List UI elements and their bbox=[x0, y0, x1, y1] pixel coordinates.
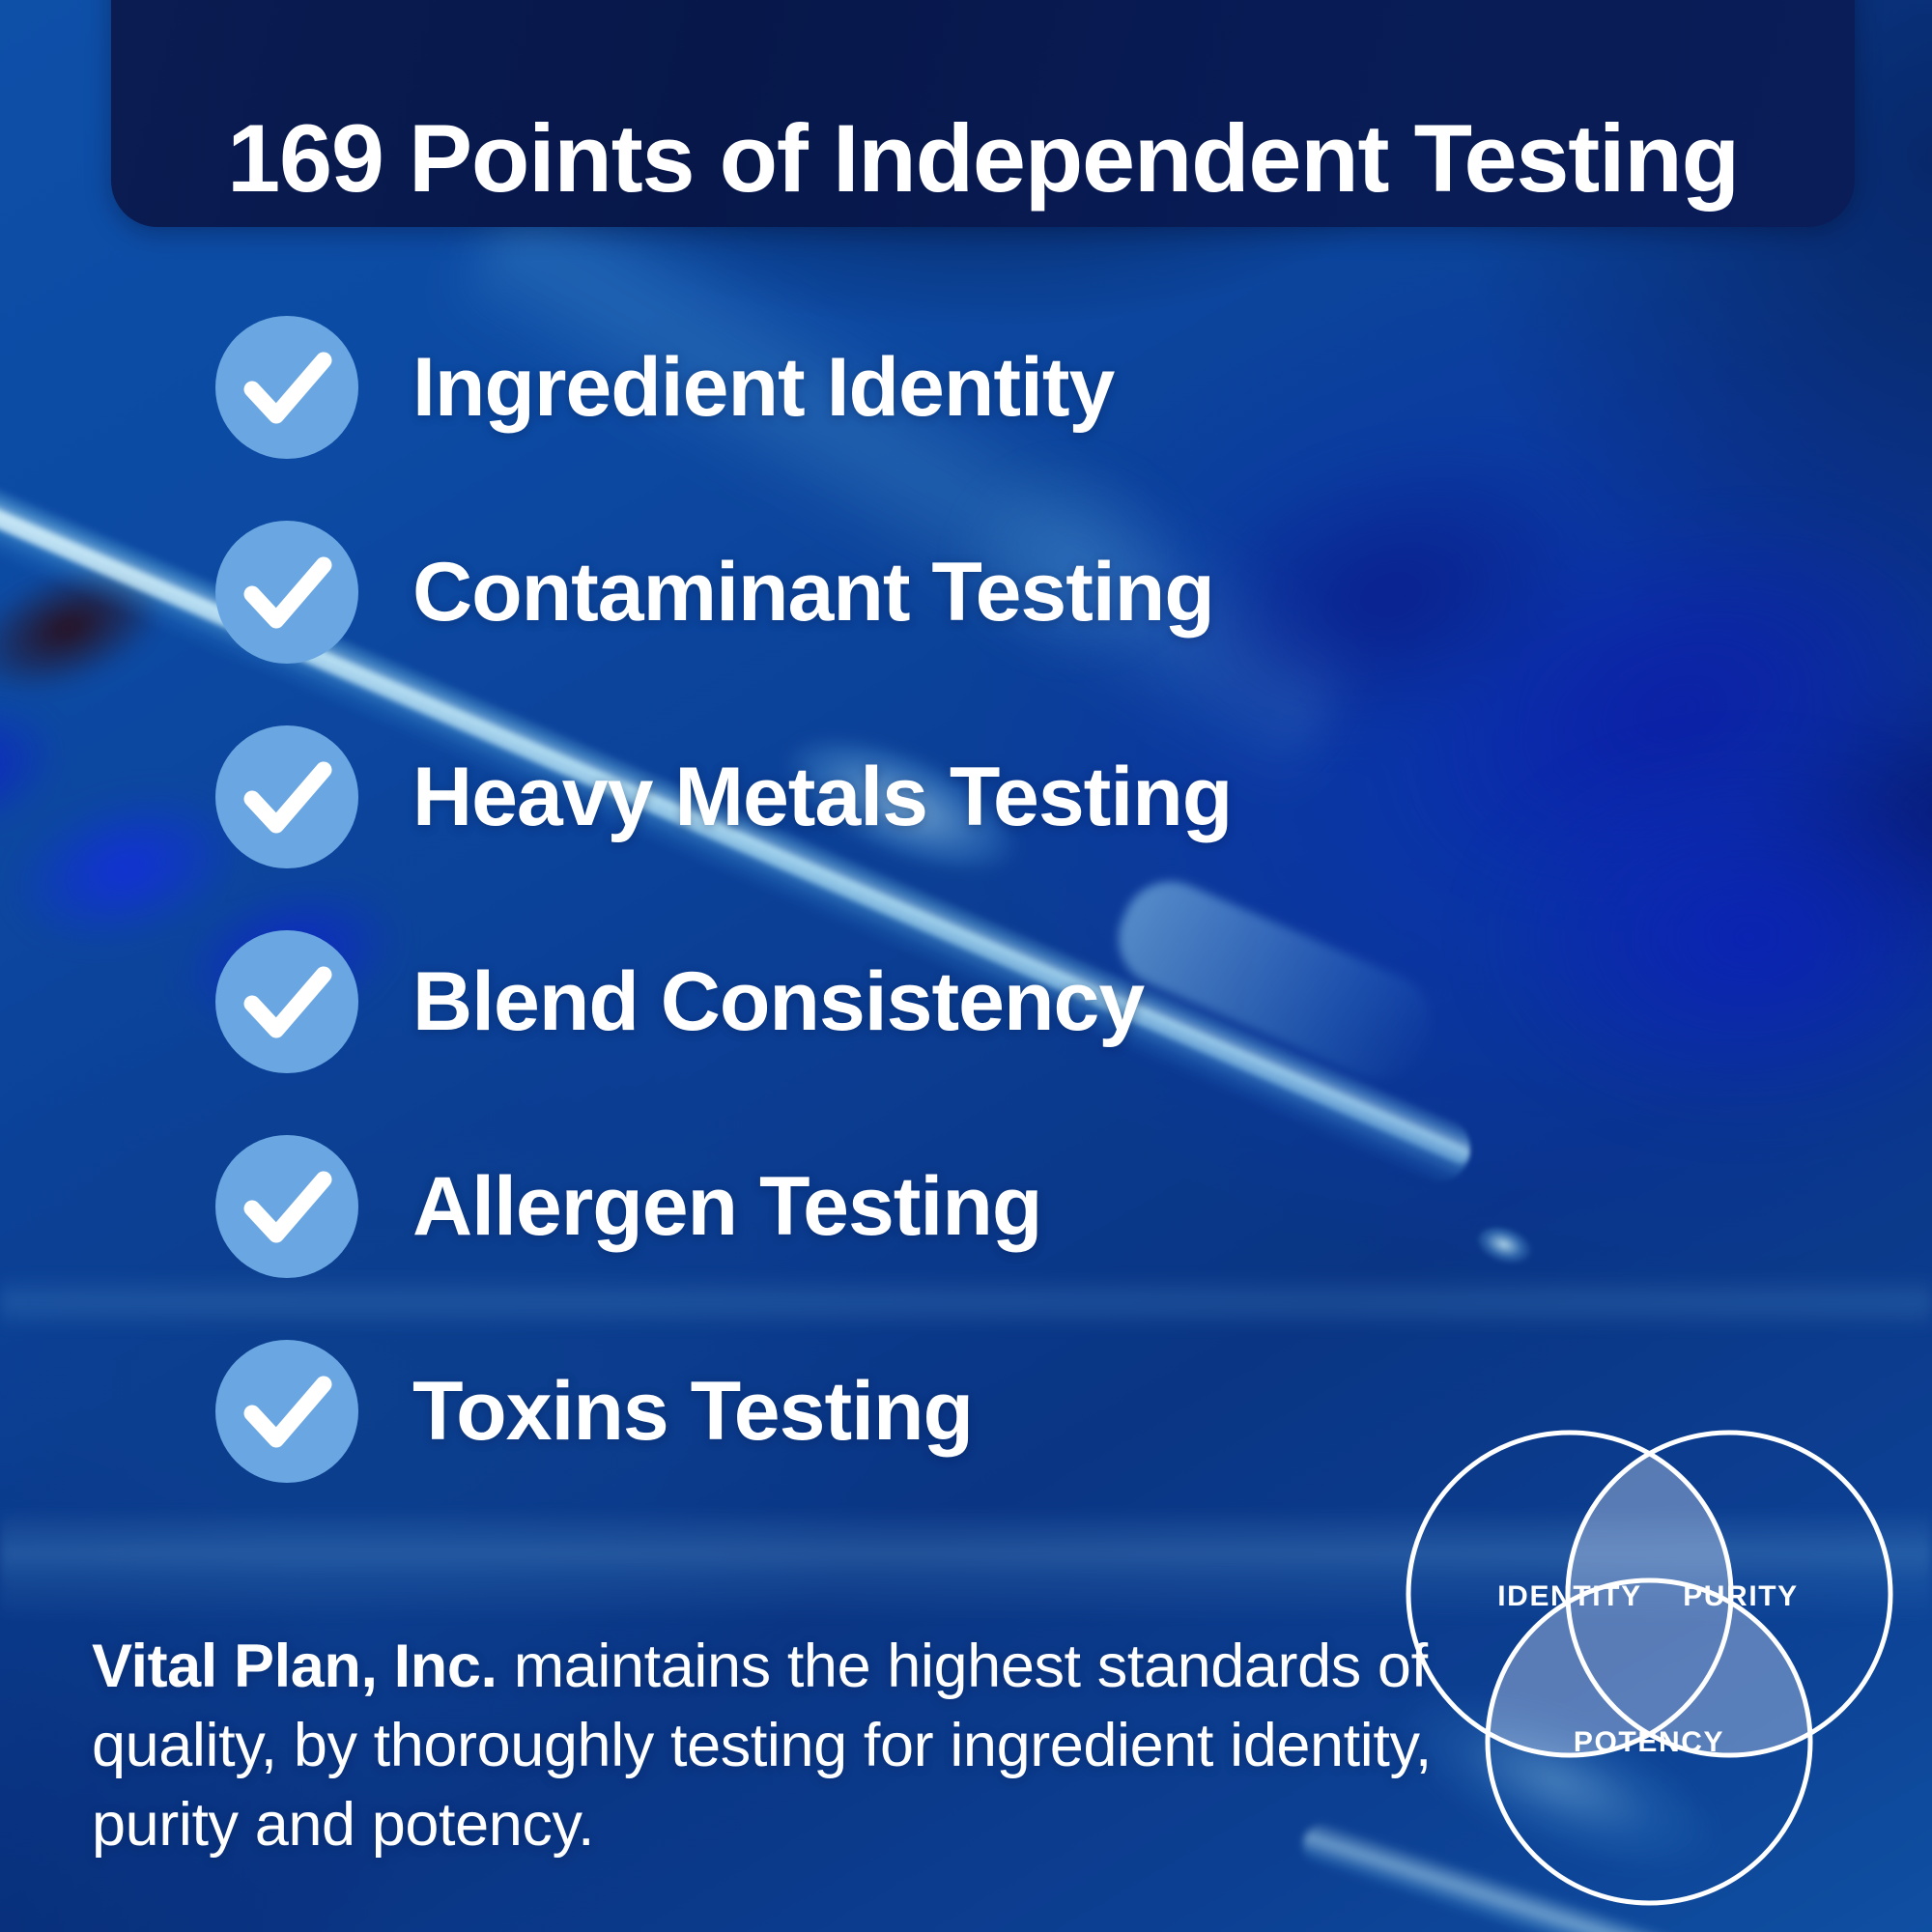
page-title: 169 Points of Independent Testing bbox=[227, 110, 1739, 206]
check-icon bbox=[215, 725, 358, 868]
venn-label-identity: IDENTITY bbox=[1497, 1580, 1641, 1612]
list-item-label: Allergen Testing bbox=[412, 1165, 1041, 1248]
list-item-label: Heavy Metals Testing bbox=[412, 755, 1232, 838]
list-item: Allergen Testing bbox=[215, 1133, 1664, 1280]
check-icon bbox=[215, 1340, 358, 1483]
poster-canvas: 169 Points of Independent Testing Ingred… bbox=[0, 0, 1932, 1932]
list-item-label: Toxins Testing bbox=[412, 1370, 973, 1453]
check-icon bbox=[215, 1135, 358, 1278]
list-item-label: Blend Consistency bbox=[412, 960, 1144, 1043]
company-statement: Vital Plan, Inc. maintains the highest s… bbox=[92, 1628, 1463, 1865]
check-icon bbox=[215, 521, 358, 664]
list-item: Ingredient Identity bbox=[215, 314, 1664, 461]
check-icon bbox=[215, 316, 358, 459]
check-icon bbox=[215, 930, 358, 1073]
testing-checklist: Ingredient Identity Contaminant Testing … bbox=[215, 314, 1664, 1543]
list-item: Contaminant Testing bbox=[215, 519, 1664, 666]
venn-label-purity: PURITY bbox=[1683, 1580, 1799, 1612]
company-name: Vital Plan, Inc. bbox=[92, 1633, 497, 1700]
header-banner: 169 Points of Independent Testing bbox=[111, 0, 1855, 227]
venn-diagram: IDENTITY PURITY POTENCY bbox=[1391, 1406, 1932, 1932]
list-item-label: Contaminant Testing bbox=[412, 551, 1214, 634]
venn-label-potency: POTENCY bbox=[1574, 1726, 1724, 1758]
list-item: Heavy Metals Testing bbox=[215, 724, 1664, 870]
list-item: Blend Consistency bbox=[215, 928, 1664, 1075]
list-item-label: Ingredient Identity bbox=[412, 346, 1114, 429]
